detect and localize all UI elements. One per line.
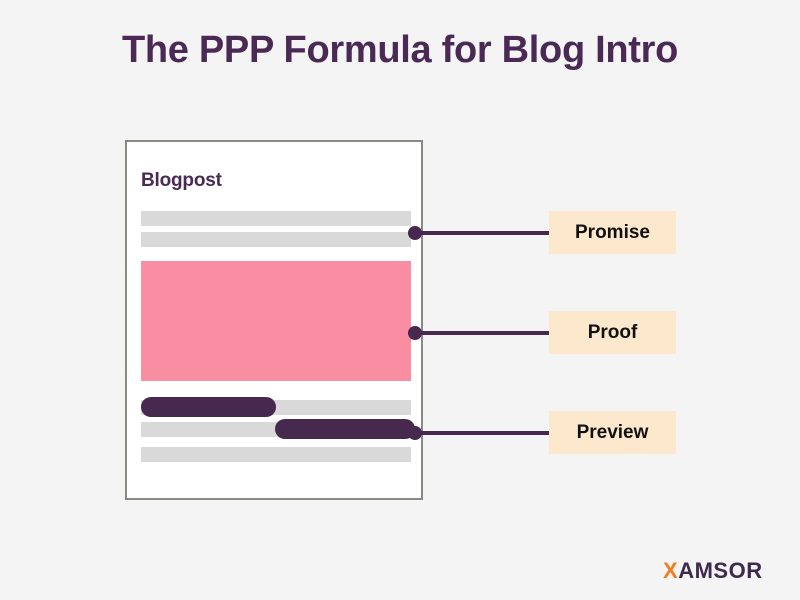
brand-logo-accent-letter: X <box>663 558 678 583</box>
brand-logo: XAMSOR <box>663 558 763 584</box>
blogpost-heading: Blogpost <box>141 170 222 192</box>
slide-canvas: The PPP Formula for Blog Intro Blogpost … <box>0 0 800 600</box>
connector-line <box>418 331 561 335</box>
connector-preview <box>408 426 553 440</box>
connector-promise <box>408 226 553 240</box>
highlight-pill <box>275 419 415 439</box>
annotation-label-preview: Preview <box>549 411 676 454</box>
page-title: The PPP Formula for Blog Intro <box>0 30 800 72</box>
annotation-label-proof: Proof <box>549 311 676 354</box>
skeleton-text-bar <box>141 447 411 462</box>
brand-logo-text: AMSOR <box>678 558 762 583</box>
highlight-pill <box>141 397 276 417</box>
annotation-label-promise: Promise <box>549 211 676 254</box>
blogpost-card: Blogpost <box>125 140 423 500</box>
skeleton-text-bar <box>141 211 411 226</box>
hero-image-placeholder <box>141 261 411 381</box>
connector-line <box>418 231 561 235</box>
connector-proof <box>408 326 553 340</box>
skeleton-text-bar <box>141 232 411 247</box>
connector-line <box>418 431 561 435</box>
